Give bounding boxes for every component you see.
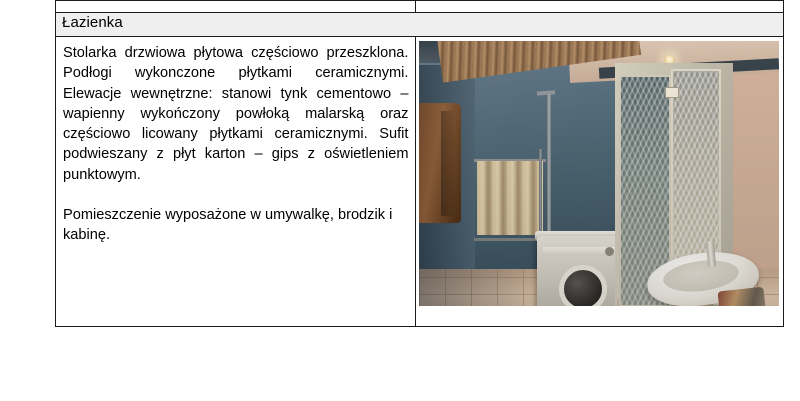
photo-color-tone: [419, 41, 779, 306]
clipped-cell-left: [56, 1, 416, 13]
description-paragraph-1: Stolarka drzwiowa płytowa częściowo prze…: [63, 43, 408, 185]
room-header-cell: Łazienka: [56, 13, 784, 37]
description-paragraph-2: Pomieszczenie wyposażone w umywalkę, bro…: [63, 205, 408, 246]
description-cell: Stolarka drzwiowa płytowa częściowo prze…: [56, 37, 416, 327]
room-name-label: Łazienka: [62, 14, 783, 32]
room-description-table: Łazienka Stolarka drzwiowa płytowa częśc…: [55, 0, 784, 327]
table-row-body: Stolarka drzwiowa płytowa częściowo prze…: [56, 37, 784, 327]
table-row-header: Łazienka: [56, 13, 784, 37]
bathroom-photo: [419, 41, 779, 306]
table-row-clipped-top: [56, 1, 784, 13]
document-page: Łazienka Stolarka drzwiowa płytowa częśc…: [0, 0, 800, 401]
photo-cell: [416, 37, 784, 327]
clipped-cell-right: [416, 1, 784, 13]
